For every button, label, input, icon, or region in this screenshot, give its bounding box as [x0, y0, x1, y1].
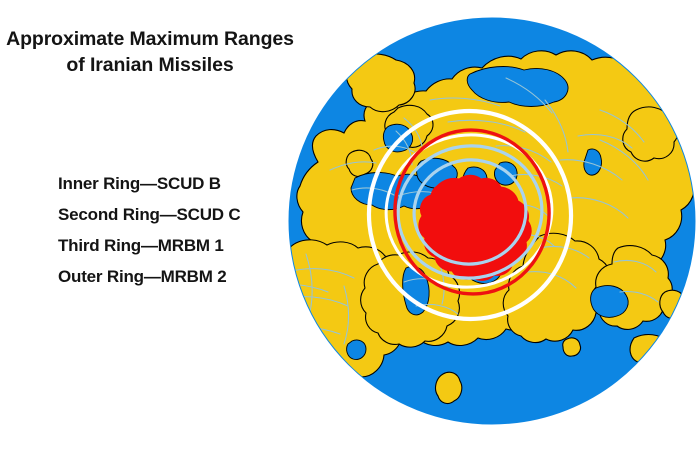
- missile-range-map-figure: Approximate Maximum Ranges of Iranian Mi…: [0, 0, 700, 450]
- philippines-islands: [660, 290, 688, 319]
- legend-item-inner-ring: Inner Ring—SCUD B: [58, 168, 298, 199]
- madagascar-island: [436, 372, 462, 403]
- bay-of-bengal-inlet: [591, 286, 629, 318]
- legend-item-second-ring: Second Ring—SCUD C: [58, 199, 298, 230]
- sri-lanka-island: [563, 338, 581, 356]
- page-title: Approximate Maximum Ranges of Iranian Mi…: [0, 26, 300, 78]
- border-africa-4: [278, 354, 344, 362]
- border-africa-8: [256, 316, 261, 368]
- legend-item-third-ring: Third Ring—MRBM 1: [58, 230, 298, 261]
- siberia-east-fringe: [623, 107, 678, 161]
- border-africa-7: [296, 376, 352, 384]
- legend-item-outer-ring: Outer Ring—MRBM 2: [58, 261, 298, 292]
- legend: Inner Ring—SCUD B Second Ring—SCUD C Thi…: [58, 168, 298, 292]
- lake-victoria: [347, 340, 366, 359]
- indonesia-islands: [630, 335, 693, 373]
